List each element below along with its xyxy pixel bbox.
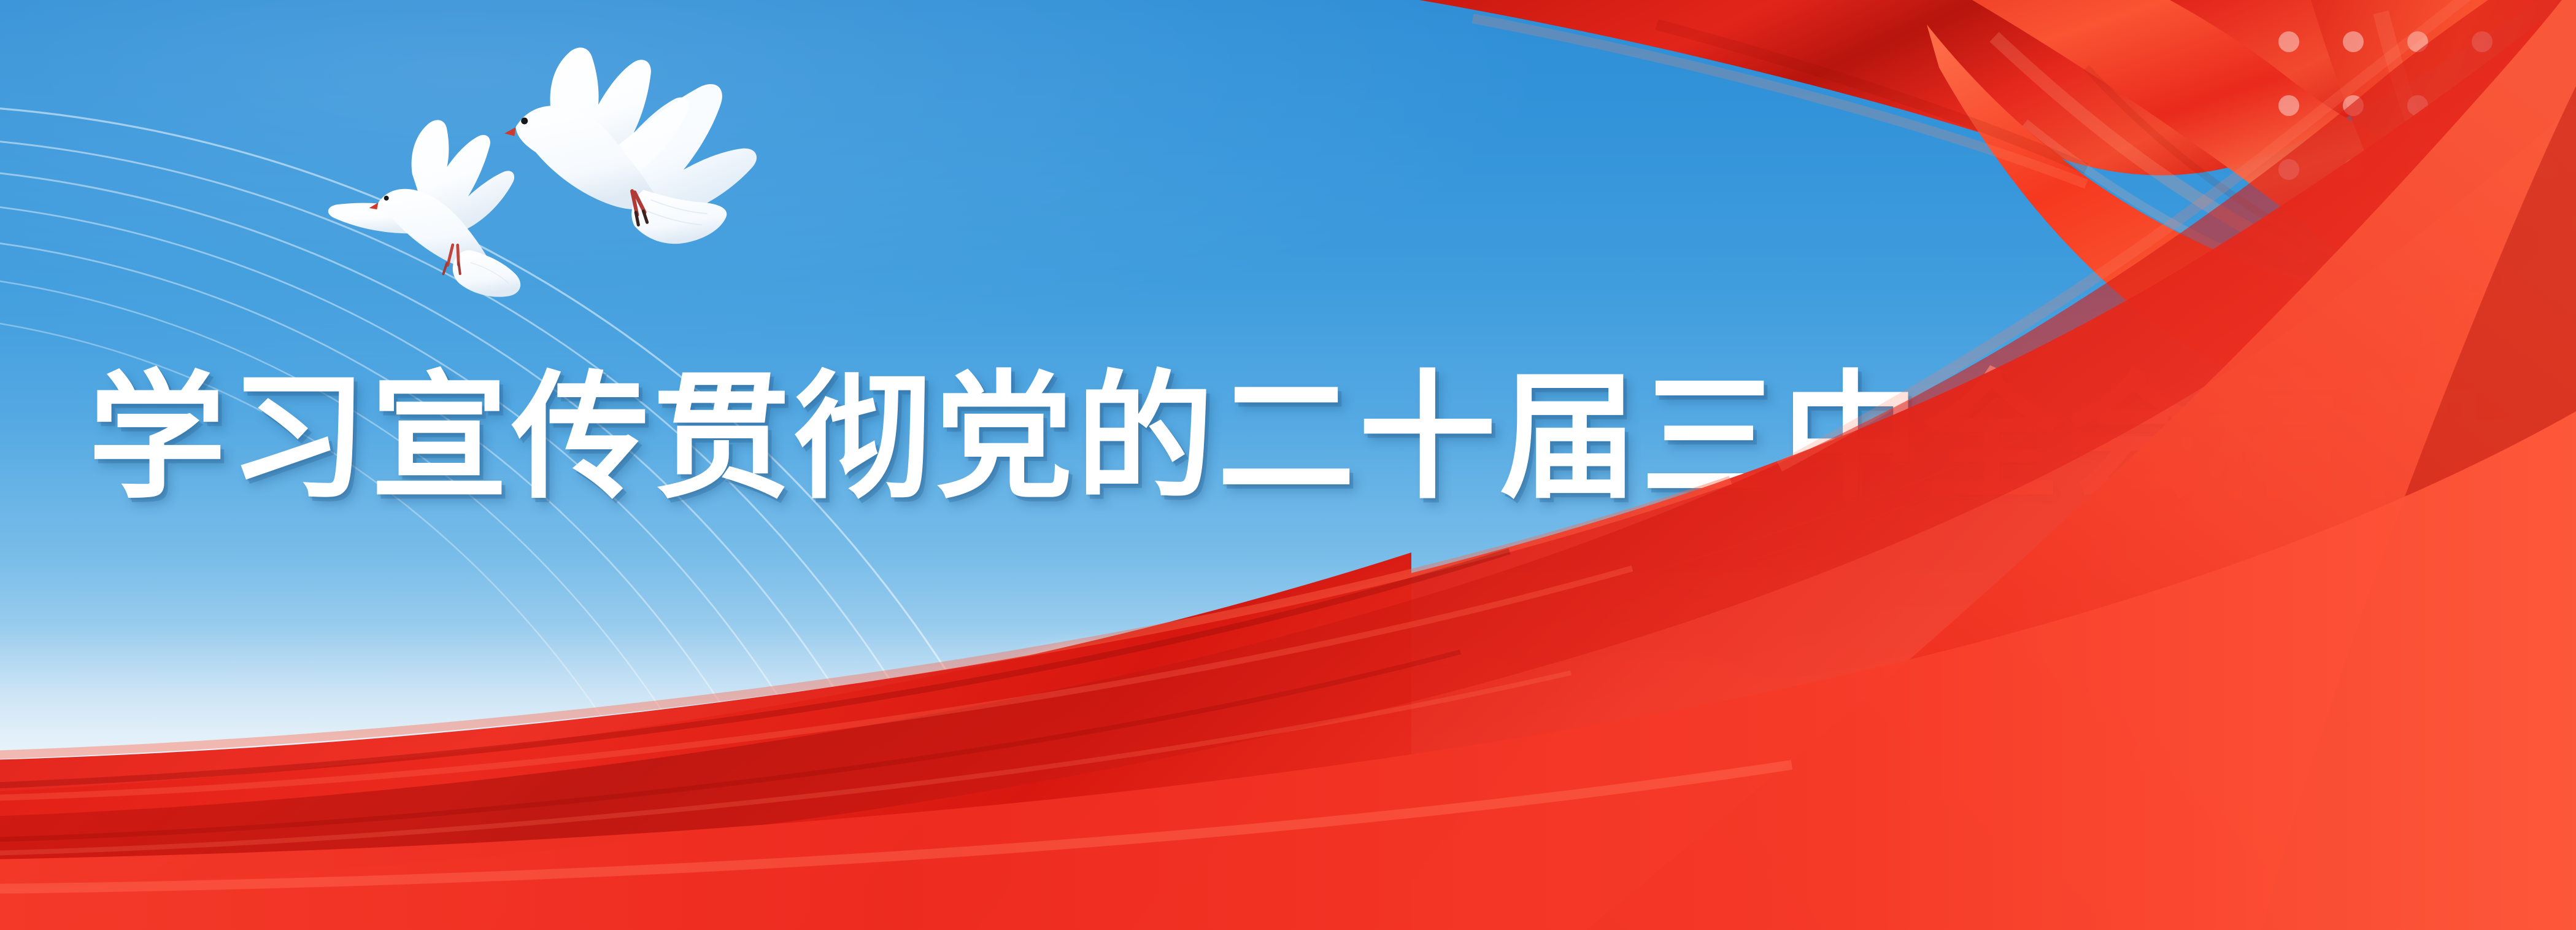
bottom-red-wave (0, 0, 2576, 930)
banner-root: 学习宣传贯彻党的二十届三中全会精神 (0, 0, 2576, 930)
